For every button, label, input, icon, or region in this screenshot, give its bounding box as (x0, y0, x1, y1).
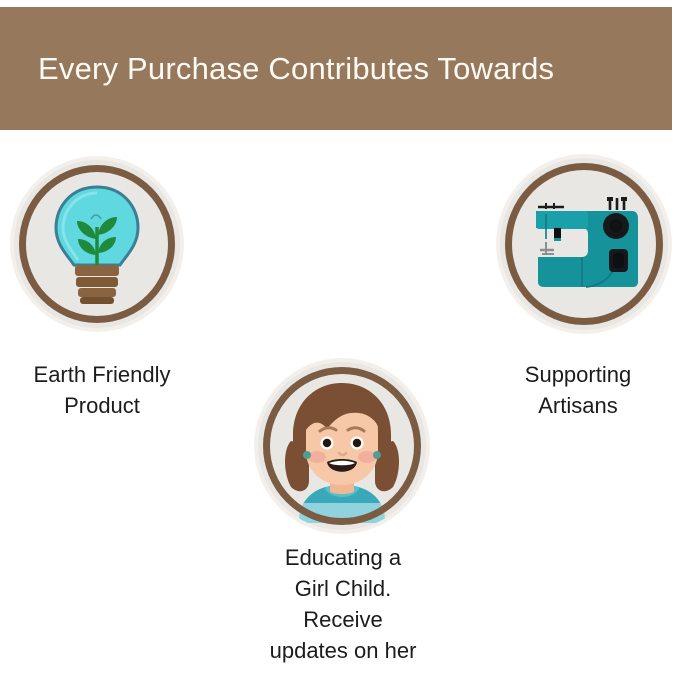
caption-educating-girl-child: Educating a Girl Child. Receive updates … (232, 542, 454, 666)
caption-earth-friendly: Earth Friendly Product (2, 359, 202, 421)
badge-earth-friendly (14, 160, 180, 328)
sewing-machine-icon (524, 194, 644, 294)
badge-educating-girl-child (258, 362, 426, 530)
badge-supporting-artisans (500, 158, 668, 330)
badge-educating-girl-child-inner (258, 362, 426, 530)
girl-child-avatar-icon (265, 369, 419, 523)
header-banner: Every Purchase Contributes Towards (0, 7, 672, 130)
eco-lightbulb-icon (47, 183, 147, 305)
caption-supporting-artisans: Supporting Artisans (478, 359, 678, 421)
page-title: Every Purchase Contributes Towards (0, 51, 554, 87)
badge-supporting-artisans-inner (500, 158, 668, 330)
badge-earth-friendly-inner (14, 160, 180, 328)
